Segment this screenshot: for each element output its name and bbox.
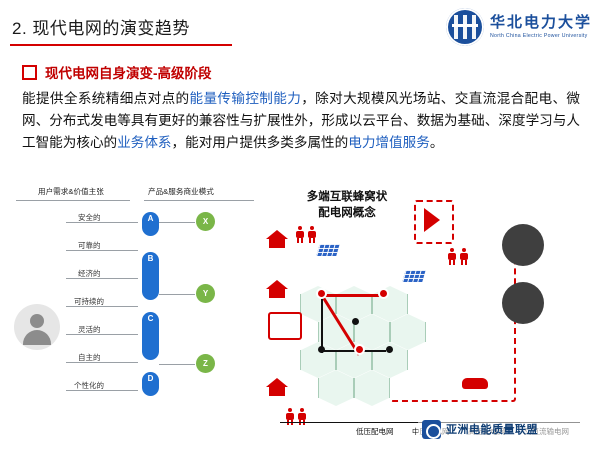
paragraph-highlight: 电力增值服务 <box>348 135 430 150</box>
outcome-Y-label: Y <box>203 289 208 298</box>
user-avatar-icon <box>14 304 60 350</box>
black-link <box>321 295 323 353</box>
header-rule-0 <box>16 200 130 201</box>
right-title-line1: 多端互联蜂窝状 <box>282 190 412 206</box>
hex-cell <box>318 378 354 398</box>
logo-text-block: 华北电力大学 North China Electric Power Univer… <box>490 15 592 39</box>
right-diagram-title: 多端互联蜂窝状 配电网概念 <box>282 190 412 221</box>
person-icon <box>308 226 316 243</box>
red-link <box>322 294 384 297</box>
section-heading: 现代电网自身演变-高级阶段 <box>22 62 212 82</box>
need-rule-6 <box>66 390 138 391</box>
pill-D-label: D <box>148 374 154 383</box>
hex-cell <box>336 294 372 314</box>
need-rule-5 <box>66 362 138 363</box>
watermark-banner: 亚洲电能质量联盟 <box>418 416 592 442</box>
left-col-header-0: 用户需求&价值主张 <box>38 186 104 197</box>
university-logo: 华北电力大学 North China Electric Power Univer… <box>446 6 592 48</box>
need-rule-4 <box>66 334 138 335</box>
outcome-Y[interactable]: Y <box>196 284 215 303</box>
house-icon <box>266 280 288 289</box>
house-body-icon <box>269 387 285 396</box>
university-emblem-icon <box>446 8 484 46</box>
figure-area: 用户需求&价值主张 产品&服务商业模式 安全的 可靠的 经济的 可持续的 灵活的… <box>0 182 600 450</box>
node-black <box>386 346 393 353</box>
outcome-X[interactable]: X <box>196 212 215 231</box>
pill-link-2 <box>159 364 195 365</box>
paragraph-highlight: 业务体系 <box>117 135 171 150</box>
person-icon <box>296 226 304 243</box>
pill-B-label: B <box>148 254 154 263</box>
slide-header: 2. 现代电网的演变趋势 华北电力大学 North China Electric… <box>0 0 600 54</box>
pill-A[interactable]: A <box>142 212 159 236</box>
hex-cell <box>390 322 426 342</box>
person-icon <box>448 248 456 265</box>
factory-icon <box>502 224 544 266</box>
solar-panel-icon <box>316 244 339 256</box>
hex-cell <box>354 378 390 398</box>
pill-link-0 <box>159 222 195 223</box>
pill-C[interactable]: C <box>142 312 159 360</box>
paragraph-text: 。 <box>430 135 444 150</box>
header-rule-1 <box>144 200 254 201</box>
house-icon <box>266 230 288 239</box>
house-body-icon <box>269 289 285 298</box>
slide: 2. 现代电网的演变趋势 华北电力大学 North China Electric… <box>0 0 600 450</box>
alliance-logo-icon <box>422 420 441 439</box>
power-meter-icon <box>268 312 302 340</box>
node-red <box>356 346 363 353</box>
node-black <box>318 346 325 353</box>
paragraph-highlight: 能量传输控制能力 <box>190 91 302 106</box>
converter-glyph-icon <box>424 208 440 232</box>
pill-C-label: C <box>148 314 154 323</box>
black-link <box>322 350 386 352</box>
need-rule-2 <box>66 278 138 279</box>
person-icon <box>460 248 468 265</box>
need-rule-0 <box>66 222 138 223</box>
outcome-Z-label: Z <box>203 359 208 368</box>
left-col-header-1: 产品&服务商业模式 <box>148 186 214 197</box>
outcome-Z[interactable]: Z <box>196 354 215 373</box>
need-rule-3 <box>66 306 138 307</box>
hex-cell <box>372 294 408 314</box>
pill-B[interactable]: B <box>142 252 159 300</box>
node-red <box>318 290 325 297</box>
paragraph-text: ，能对用户提供多类多属性的 <box>172 135 349 150</box>
house-body-icon <box>269 239 285 248</box>
hex-cell <box>336 350 372 370</box>
legend-item-0: 低压配电网 <box>356 426 394 437</box>
pill-link-1 <box>159 294 195 295</box>
node-black <box>352 318 359 325</box>
hex-cell <box>300 350 336 370</box>
logo-name-cn: 华北电力大学 <box>490 15 592 31</box>
section-heading-label: 现代电网自身演变-高级阶段 <box>45 62 212 82</box>
hex-cell <box>354 322 390 342</box>
pill-A-label: A <box>148 214 154 223</box>
substation-icon <box>502 282 544 324</box>
watermark-label: 亚洲电能质量联盟 <box>446 421 538 437</box>
ev-car-icon <box>462 378 488 389</box>
node-red <box>380 290 387 297</box>
need-rule-1 <box>66 250 138 251</box>
logo-name-en: North China Electric Power University <box>490 34 592 39</box>
right-title-line2: 配电网概念 <box>282 206 412 222</box>
square-bullet-icon <box>22 65 37 80</box>
outcome-X-label: X <box>203 217 208 226</box>
paragraph-text: 能提供全系统精细点对点的 <box>22 91 190 106</box>
pill-D[interactable]: D <box>142 372 159 396</box>
body-paragraph: 能提供全系统精细点对点的能量传输控制能力，除对大规模风光场站、交直流混合配电、微… <box>22 88 580 154</box>
house-icon <box>266 378 288 387</box>
page-title: 2. 现代电网的演变趋势 <box>12 14 190 39</box>
title-underline <box>10 44 232 46</box>
solar-panel-icon <box>402 270 425 282</box>
hex-cell <box>372 350 408 370</box>
